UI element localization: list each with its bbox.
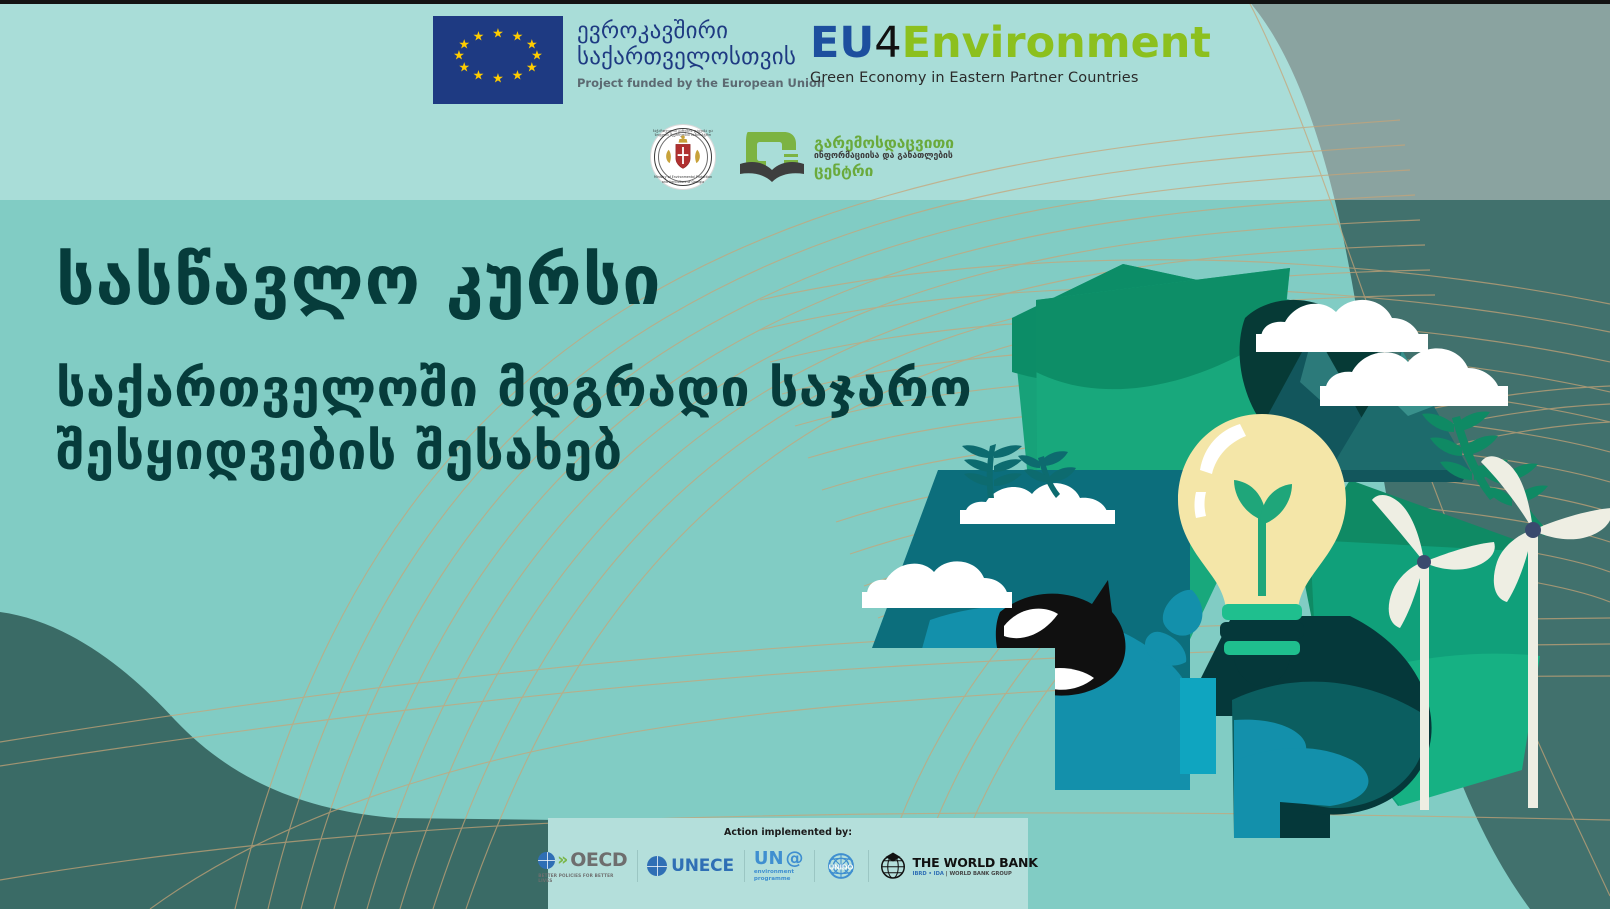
gec-logo: გარემოსდაცვითი ინფორმაციისა და განათლები…: [738, 128, 954, 186]
eu-funding-note: Project funded by the European Union: [577, 76, 825, 90]
oecd-swoosh-icon: »: [557, 852, 568, 869]
eu4environment-logo: EU4Environment Green Economy in Eastern …: [810, 22, 1211, 86]
page-subtitle: საქართველოში მდგრადი საჯარო შესყიდვების …: [56, 358, 972, 485]
gec-line3: ცენტრი: [814, 163, 954, 179]
gec-line1: გარემოსდაცვითი: [814, 135, 954, 151]
unido-emblem-icon: UNIDO: [824, 849, 858, 883]
footer-partners: Action implemented by: » OECD BETTER POL…: [548, 818, 1028, 909]
river-valley-icon: [862, 444, 1190, 800]
page-subtitle-line2: შესყიდვების შესახებ: [56, 421, 972, 484]
e4e-suffix: Environment: [902, 18, 1211, 68]
page-subtitle-line1: საქართველოში მდგრადი საჯარო: [56, 358, 972, 421]
oecd-wordmark: OECD: [570, 849, 627, 871]
eu-flag-icon: ★ ★ ★ ★ ★ ★ ★ ★ ★ ★ ★ ★: [433, 16, 563, 104]
unep-at-symbol-icon: @: [786, 850, 804, 868]
e4e-numeral: 4: [874, 18, 901, 68]
unece-wordmark: UNECE: [671, 856, 734, 876]
un-environment-programme-logo: UN @ environment programme: [744, 844, 814, 888]
oecd-tagline: BETTER POLICIES FOR BETTER LIVES: [538, 873, 627, 883]
globe-swoosh-icon: [538, 852, 555, 869]
world-bank-globe-icon: [878, 851, 908, 881]
world-bank-wordmark: THE WORLD BANK: [913, 855, 1038, 870]
partner-logos-row: საქართველოს გარემოს დაცვისა და სოფლის მე…: [650, 124, 954, 190]
banner-canvas: ★ ★ ★ ★ ★ ★ ★ ★ ★ ★ ★ ★ ევროკავშირი საქა…: [0, 0, 1610, 909]
open-book-leaf-icon: [738, 128, 806, 186]
gec-line2: ინფორმაციისა და განათლების: [814, 152, 954, 161]
page-title: სასწავლო კურსი: [56, 248, 972, 316]
georgia-coat-of-arms-icon: საქართველოს გარემოს დაცვისა და სოფლის მე…: [650, 124, 716, 190]
header-logos: ★ ★ ★ ★ ★ ★ ★ ★ ★ ★ ★ ★ ევროკავშირი საქა…: [0, 0, 1610, 200]
coat-of-arms-shield: [666, 135, 700, 168]
footer-logo-list: » OECD BETTER POLICIES FOR BETTER LIVES …: [528, 842, 1047, 890]
unep-sub-line2: programme: [754, 876, 791, 883]
world-bank-sub-right: WORLD BANK GROUP: [949, 871, 1011, 877]
world-bank-sub-left: IBRD • IDA: [913, 871, 944, 877]
svg-text:UNIDO: UNIDO: [828, 862, 853, 871]
eu-title-line2: საქართველოსთვის: [577, 44, 825, 70]
oecd-logo: » OECD BETTER POLICIES FOR BETTER LIVES: [528, 844, 637, 888]
eu-title-line1: ევროკავშირი: [577, 18, 825, 44]
footer-caption: Action implemented by:: [724, 827, 852, 838]
unep-sub-line1: environment: [754, 869, 794, 876]
world-bank-logo: THE WORLD BANK IBRD • IDA | WORLD BANK G…: [868, 844, 1048, 888]
hero-title-block: სასწავლო კურსი საქართველოში მდგრადი საჯა…: [56, 248, 972, 485]
unep-wordmark: UN: [754, 850, 784, 868]
unido-logo: UNIDO: [814, 844, 868, 888]
eu-funding-logo: ★ ★ ★ ★ ★ ★ ★ ★ ★ ★ ★ ★ ევროკავშირი საქა…: [433, 16, 825, 104]
e4e-tagline: Green Economy in Eastern Partner Countri…: [810, 70, 1211, 86]
e4e-prefix: EU: [810, 18, 874, 68]
un-emblem-icon: [647, 856, 667, 876]
seal-ring-text-bottom: Ministry of Environmental Protection and…: [651, 175, 715, 184]
unece-logo: UNECE: [637, 844, 744, 888]
